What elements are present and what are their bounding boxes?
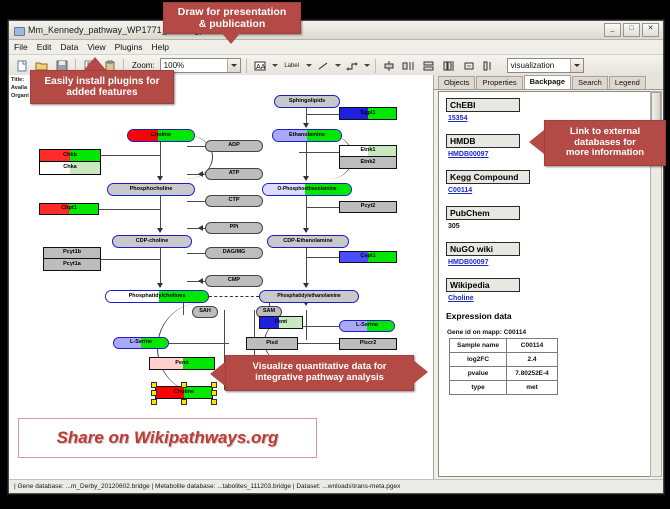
node-sphingolipids[interactable]: Sphingolipids [274, 95, 340, 108]
callout-draw-line2: & publication [199, 18, 266, 30]
edge-pcyt2 [306, 207, 339, 208]
gene-pcyt2[interactable]: Pcyt2 [339, 201, 397, 213]
chevron-down-icon[interactable] [335, 64, 341, 67]
order-icon[interactable] [441, 57, 458, 74]
callout-draw: Draw for presentation & publication [163, 2, 301, 34]
toolbar-separator-3 [246, 59, 247, 73]
expr-val-pvalue: 7.80252E-4 [507, 367, 558, 381]
resize-handle[interactable] [151, 382, 157, 388]
gene-sgpl1[interactable]: Sgpl1 [339, 107, 397, 120]
gene-pisd[interactable]: Pisd [246, 337, 298, 350]
close-button[interactable]: ✕ [642, 23, 659, 37]
tab-legend[interactable]: Legend [609, 76, 646, 89]
connector-dropdown[interactable] [364, 64, 370, 67]
callout-plugins-pointer-icon [84, 57, 106, 70]
callout-visualize: Visualize quantitative data for integrat… [225, 355, 414, 391]
toolbar-separator-4 [375, 59, 376, 73]
connector-icon[interactable] [344, 57, 361, 74]
node-label: SAH [199, 309, 211, 315]
node-label: Pcyt2 [361, 204, 376, 210]
menu-item-data[interactable]: Data [60, 42, 78, 52]
node-ppi[interactable]: PPi [205, 222, 263, 234]
gene-chpt1[interactable]: Chpt1 [39, 203, 99, 215]
expr-key-log2fc: log2FC [450, 353, 507, 367]
tab-properties[interactable]: Properties [476, 76, 522, 89]
db-value-pubchem: 305 [448, 223, 650, 230]
expr-val-sample-name: C00114 [507, 339, 558, 353]
window-titlebar: Mm_Kennedy_pathway_WP1771_45176.gpml _ □… [9, 21, 663, 40]
chevron-down-icon[interactable] [570, 59, 583, 72]
callout-draw-line1: Draw for presentation [178, 6, 287, 18]
label-dropdown[interactable] [306, 64, 312, 67]
edge-pe-to-pc-dashed [209, 296, 259, 297]
chevron-down-icon[interactable] [272, 64, 278, 67]
node-adp[interactable]: ADP [205, 140, 263, 152]
menu-item-edit[interactable]: Edit [37, 42, 52, 52]
node-cdp-choline[interactable]: CDP-choline [112, 235, 192, 248]
arrowhead-icon [198, 225, 203, 231]
gene-pcyt1a[interactable]: Pcyt1a [43, 259, 101, 271]
edge-lserine-right [298, 326, 339, 327]
callout-link-line1: Link to external [570, 127, 640, 138]
db-link-kegg[interactable]: C00114 [448, 187, 650, 194]
node-label: CDP-Ethanolamine [283, 239, 333, 245]
callout-link-pointer-icon [529, 130, 544, 154]
node-l-serine-right[interactable]: L-Serine [339, 320, 395, 332]
node-label: Pcyt1a [63, 262, 81, 268]
node-atp[interactable]: ATP [205, 168, 263, 180]
align-icon[interactable] [381, 57, 398, 74]
node-label: Pemt [175, 361, 188, 367]
callout-plugins: Easily install plugins for added feature… [30, 70, 174, 104]
edge-pcyt-to-main [101, 259, 160, 260]
db-header-nugo-wiki: NuGO wiki [446, 242, 520, 256]
node-label: Pcyt1b [63, 250, 81, 256]
label-icon[interactable]: Label [281, 57, 303, 74]
node-label: PPi [230, 225, 239, 231]
side-pane-tabs: Objects Properties Backpage Search Legen… [434, 75, 663, 90]
node-sah[interactable]: SAH [192, 306, 218, 318]
callout-link-line3: more information [566, 148, 644, 159]
arrowhead-icon [303, 228, 309, 233]
gene-pemt-top[interactable]: Pemt [259, 316, 303, 329]
line-icon[interactable] [315, 57, 332, 74]
gene-group-chk: Chkb Chka [39, 149, 101, 175]
expr-key-type: type [450, 381, 507, 395]
label-icon-text: Label [284, 63, 299, 69]
node-label: Choline [151, 133, 171, 139]
menu-item-file[interactable]: File [14, 42, 28, 52]
arrowhead-icon [157, 283, 163, 288]
visualization-combobox[interactable]: visualization [507, 58, 584, 73]
status-bar: | Gene database: ...m_Derby_20120602.bri… [9, 479, 663, 493]
canvas-label-organism: Organi [11, 93, 29, 99]
resize-handle[interactable] [211, 399, 217, 405]
svg-text:AA: AA [256, 64, 266, 71]
edge-chpt1-to-main [99, 209, 160, 210]
group-icon[interactable] [461, 57, 478, 74]
resize-handle[interactable] [211, 390, 217, 396]
visualization-value: visualization [511, 61, 555, 70]
arrowhead-icon [303, 123, 309, 128]
menu-item-view[interactable]: View [87, 42, 105, 52]
gene-pemt[interactable]: Pemt [149, 357, 215, 370]
resize-handle[interactable] [181, 399, 187, 405]
node-label: Sgpl1 [361, 111, 376, 117]
node-cdp-ethanolamine[interactable]: CDP-Ethanolamine [267, 235, 349, 248]
node-label: ATP [229, 171, 240, 177]
db-link-nugo[interactable]: HMDB00097 [448, 259, 650, 266]
callout-plugins-line1: Easily install plugins for [44, 76, 159, 88]
gene-id-on-mapp: Gene id on mapp: C00114 [447, 329, 650, 336]
callout-visualize-line2: integrative pathway analysis [255, 373, 384, 384]
status-text: | Gene database: ...m_Derby_20120602.bri… [14, 483, 400, 490]
gene-etnk1[interactable]: Etnk1 [339, 145, 397, 157]
node-label: L-Serine [356, 323, 378, 329]
window-buttons: _ □ ✕ [604, 23, 659, 37]
arrowhead-icon [303, 283, 309, 288]
edge-pc-sah [183, 303, 184, 315]
edge-to-ctp [187, 201, 205, 202]
edge-to-dagmg [187, 253, 205, 254]
node-dagmg[interactable]: DAG/MG [205, 247, 263, 259]
node-label: Pemt [275, 320, 287, 325]
table-row: pvalue 7.80252E-4 [450, 367, 558, 381]
db-header-hmdb: HMDB [446, 134, 520, 148]
node-label: Phosphocholine [130, 187, 173, 193]
edge-cdpetn-pe [306, 248, 307, 287]
node-label: Ethanolamine [289, 133, 325, 139]
node-label: CMP [228, 278, 240, 284]
db-header-chebi: ChEBI [446, 98, 520, 112]
maximize-button[interactable]: □ [623, 23, 640, 37]
node-label: Etnk2 [361, 160, 376, 166]
node-label: ADP [228, 143, 240, 149]
chevron-down-icon[interactable] [306, 64, 312, 67]
chevron-down-icon[interactable] [364, 64, 370, 67]
chevron-down-icon[interactable] [227, 59, 240, 72]
zoom-label: Zoom: [132, 61, 155, 70]
ungroup-icon[interactable] [481, 57, 498, 74]
arrowhead-icon [157, 176, 163, 181]
node-label: Phosphatidylcholines [129, 294, 186, 300]
node-label: CDP-choline [136, 239, 169, 245]
node-ethanolamine[interactable]: Ethanolamine [272, 129, 342, 142]
resize-handle[interactable] [151, 399, 157, 405]
screenshot-root: Mm_Kennedy_pathway_WP1771_45176.gpml _ □… [0, 0, 670, 509]
callout-draw-pointer-icon [220, 31, 242, 44]
arrowhead-icon [157, 228, 163, 233]
expr-key-sample-name: Sample name [450, 339, 507, 353]
shape-dropdown[interactable] [272, 64, 278, 67]
gene-plscr2[interactable]: Plscr2 [339, 338, 397, 350]
arrowhead-icon [198, 171, 203, 177]
edge-ope-cdpetn [306, 196, 307, 232]
tab-objects[interactable]: Objects [438, 76, 475, 89]
node-cmp[interactable]: CMP [205, 275, 263, 287]
arrowhead-icon [198, 278, 203, 284]
node-label: Phosphatidylethanolamine [277, 294, 341, 299]
db-link-wikipedia[interactable]: Choline [448, 295, 650, 302]
node-label: SAM [263, 309, 275, 315]
gene-pcyt1b[interactable]: Pcyt1b [43, 247, 101, 259]
edge-sgpl1 [306, 114, 339, 115]
node-label: Chka [63, 165, 76, 171]
expr-val-log2fc: 2.4 [507, 353, 558, 367]
gene-chkb[interactable]: Chkb [40, 150, 100, 162]
node-label: CTP [229, 198, 240, 204]
gene-cept1[interactable]: Cept1 [339, 251, 397, 263]
node-label: L-Serine [130, 340, 152, 346]
tab-backpage[interactable]: Backpage [524, 75, 571, 89]
new-file-icon[interactable] [13, 57, 30, 74]
node-choline[interactable]: Choline [127, 129, 195, 142]
node-label: Chkb [63, 153, 77, 159]
tab-search[interactable]: Search [572, 76, 608, 89]
edge-chk-to-main [99, 155, 160, 156]
menubar: File Edit Data View Plugins Help [9, 40, 663, 55]
node-label: Chpt1 [61, 206, 77, 212]
minimize-button[interactable]: _ [604, 23, 621, 37]
line-dropdown[interactable] [335, 64, 341, 67]
share-banner: Share on Wikipathways.org [18, 418, 317, 458]
node-phosphatidylcholines[interactable]: Phosphatidylcholines [105, 290, 209, 303]
callout-link: Link to external databases for more info… [544, 120, 666, 166]
node-label: Etnk1 [361, 148, 376, 154]
node-label: Sphingolipids [289, 99, 325, 105]
node-label: Choline [174, 390, 194, 396]
callout-visualize-pointer-right-icon [412, 359, 428, 385]
stack-icon[interactable] [421, 57, 438, 74]
gene-chka[interactable]: Chka [40, 162, 100, 174]
node-label: Pisd [266, 341, 278, 347]
table-row: log2FC 2.4 [450, 353, 558, 367]
expr-val-type: met [507, 381, 558, 395]
db-header-kegg-compound: Kegg Compound [446, 170, 530, 184]
expression-table: Sample name C00114 log2FC 2.4 pvalue 7.8… [449, 338, 558, 395]
node-o-phosphoethanolamine[interactable]: O-Phosphoethanolamine [262, 183, 352, 196]
canvas-label-title: Title: [11, 77, 24, 83]
callout-visualize-pointer-left-icon [210, 362, 225, 386]
menu-item-plugins[interactable]: Plugins [115, 42, 143, 52]
table-row: Sample name C00114 [450, 339, 558, 353]
resize-handle[interactable] [181, 382, 187, 388]
distribute-icon[interactable] [401, 57, 418, 74]
node-phosphocholine[interactable]: Phosphocholine [107, 183, 195, 196]
gene-etnk2[interactable]: Etnk2 [339, 157, 397, 169]
menu-item-help[interactable]: Help [152, 42, 169, 52]
db-header-pubchem: PubChem [446, 206, 520, 220]
edge-cept1 [306, 257, 339, 258]
canvas-label-availability: Availa [11, 85, 27, 91]
node-label: Cept1 [360, 254, 375, 260]
share-text: Share on Wikipathways.org [57, 428, 279, 448]
node-label: DAG/MG [223, 250, 246, 256]
expr-key-pvalue: pvalue [450, 367, 507, 381]
table-row: type met [450, 381, 558, 395]
app-icon [13, 25, 24, 36]
edge-phosphocholine-cdpcholine [160, 196, 161, 232]
node-label: Plscr2 [360, 341, 377, 347]
node-label: O-Phosphoethanolamine [277, 187, 336, 192]
resize-handle[interactable] [151, 390, 157, 396]
callout-plugins-line2: added features [66, 87, 137, 99]
node-l-serine-left[interactable]: L-Serine [113, 337, 169, 349]
shape-icon[interactable]: AA [252, 57, 269, 74]
db-header-wikipedia: Wikipedia [446, 278, 520, 292]
node-ctp[interactable]: CTP [205, 195, 263, 207]
arrowhead-icon [303, 176, 309, 181]
edge-cdpcholine-pc [160, 248, 161, 287]
zoom-value: 100% [164, 61, 184, 70]
expression-data-heading: Expression data [446, 311, 650, 321]
selection-box[interactable]: Choline [149, 380, 219, 405]
node-phosphatidylethanolamine[interactable]: Phosphatidylethanolamine [259, 290, 359, 303]
